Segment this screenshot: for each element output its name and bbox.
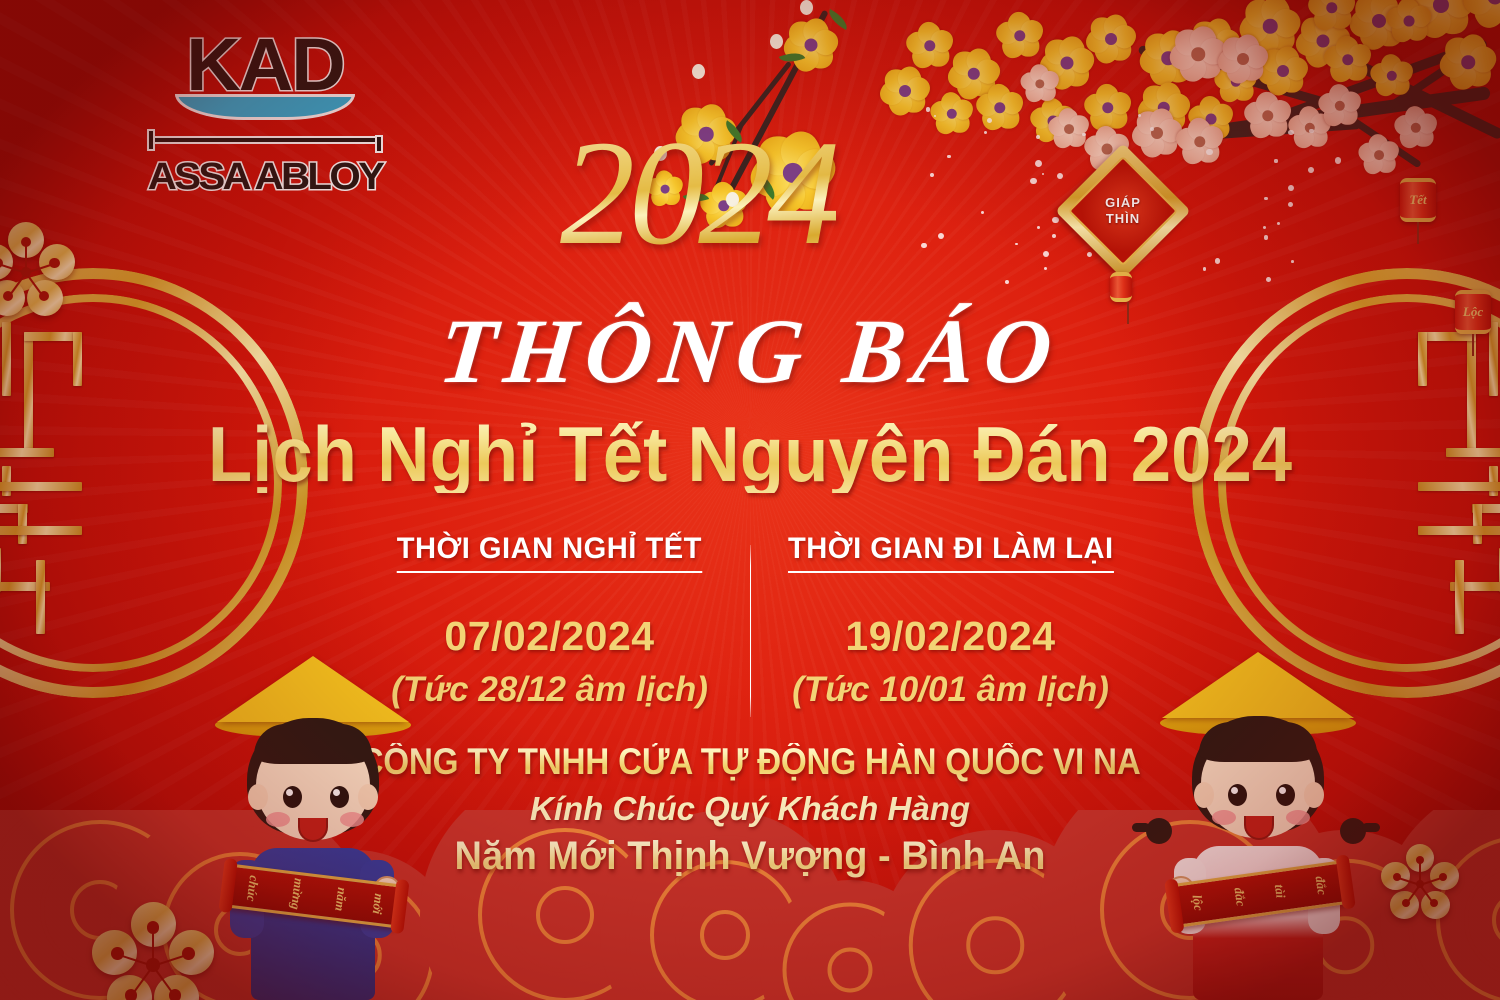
peach-blossom bbox=[1320, 86, 1360, 126]
concentric-ring bbox=[966, 916, 1024, 974]
apricot-blossom bbox=[1326, 38, 1370, 82]
kad-assa-abloy-logo: KAD ASSA ABLOY bbox=[140, 30, 390, 196]
gold-flower-dot bbox=[49, 258, 59, 268]
falling-petal-speck bbox=[1052, 217, 1058, 223]
boy-character-illustration: chúcmừngnămmới bbox=[178, 660, 448, 1000]
flower-center bbox=[1237, 53, 1249, 65]
column-date: 07/02/2024 bbox=[350, 613, 750, 660]
plaque-label: GIÁP THÌN bbox=[1075, 163, 1171, 259]
peach-blossom bbox=[1178, 120, 1222, 164]
column-date: 19/02/2024 bbox=[751, 613, 1151, 660]
flower-center bbox=[1191, 47, 1205, 61]
flower-center bbox=[1102, 144, 1113, 155]
giap-thin-plaque: GIÁP THÌN bbox=[1075, 163, 1171, 259]
falling-petal-speck bbox=[1288, 130, 1293, 135]
scroll-word: đắc bbox=[1230, 886, 1248, 907]
peach-blossom bbox=[1360, 136, 1398, 174]
falling-petal-speck bbox=[984, 131, 987, 134]
boy-cheek-left bbox=[266, 812, 290, 827]
girl-cheek-left bbox=[1212, 810, 1236, 825]
apricot-blossom bbox=[1388, 0, 1430, 42]
seal-maze-bar bbox=[0, 448, 54, 457]
concentric-ring bbox=[700, 910, 750, 960]
falling-petal-speck bbox=[1335, 157, 1341, 163]
gold-flower-center-dot bbox=[146, 958, 160, 972]
peach-blossom bbox=[1022, 66, 1058, 102]
boy-conical-hat bbox=[217, 656, 409, 722]
column-heading: THỜI GIAN ĐI LÀM LẠI bbox=[788, 532, 1113, 573]
falling-petal-speck bbox=[1308, 167, 1314, 173]
peach-blossom bbox=[1246, 94, 1290, 138]
announcement-title: THÔNG BÁO bbox=[0, 305, 1500, 397]
falling-petal-speck bbox=[1264, 197, 1268, 201]
scroll-cap-left bbox=[218, 858, 237, 913]
girl-cheek-right bbox=[1286, 810, 1310, 825]
falling-petal-speck bbox=[1030, 178, 1037, 185]
flower-center bbox=[1404, 16, 1415, 27]
apricot-blossom bbox=[908, 24, 952, 68]
falling-petal-speck bbox=[1288, 202, 1293, 207]
schedule-column-return-to-work: THỜI GIAN ĐI LÀM LẠI 19/02/2024 (Tức 10/… bbox=[751, 532, 1151, 710]
flower-center bbox=[1064, 124, 1074, 134]
boy-ear-right bbox=[358, 784, 378, 810]
page-subtitle: Lịch Nghỉ Tết Nguyên Đán 2024 bbox=[53, 415, 1448, 493]
plaque-line-1: GIÁP bbox=[1105, 196, 1141, 211]
scroll-word: năm bbox=[331, 886, 350, 912]
scroll-cap-left bbox=[1164, 878, 1184, 933]
falling-petal-speck bbox=[1044, 267, 1047, 270]
apricot-blossom bbox=[932, 94, 972, 134]
girl-character-illustration: lộcđắctàiđắc bbox=[1118, 660, 1398, 1000]
falling-petal-speck bbox=[1266, 277, 1271, 282]
falling-petal-speck bbox=[1015, 243, 1018, 246]
apricot-blossom bbox=[978, 86, 1022, 130]
girl-eye-left bbox=[1228, 784, 1247, 806]
falling-petal-speck bbox=[1263, 226, 1266, 229]
flower-center bbox=[805, 39, 818, 52]
falling-petal-speck bbox=[1291, 260, 1294, 263]
apricot-blossom bbox=[1466, 0, 1500, 26]
boy-cheek-right bbox=[340, 812, 364, 827]
falling-petal-speck bbox=[1043, 251, 1049, 257]
scroll-word: mới bbox=[369, 893, 387, 915]
seal-maze-bar bbox=[2, 466, 11, 496]
seal-maze-bar bbox=[1489, 466, 1498, 496]
girl-pigtail-right bbox=[1340, 818, 1366, 844]
girl-ear-right bbox=[1304, 782, 1324, 808]
boy-eye-right bbox=[330, 786, 349, 808]
flower-bud bbox=[770, 34, 783, 49]
scroll-cap-right bbox=[390, 879, 409, 934]
peach-blossom bbox=[1396, 108, 1436, 148]
girl-eye-right bbox=[1276, 784, 1295, 806]
falling-petal-speck bbox=[1082, 133, 1086, 137]
falling-petal-speck bbox=[930, 173, 934, 177]
plaque-line-2: THÌN bbox=[1106, 212, 1140, 227]
rule-bar-right-tick bbox=[377, 137, 381, 151]
logo-rule-bar bbox=[149, 131, 381, 151]
apricot-blossom bbox=[1088, 16, 1134, 62]
flower-bud bbox=[800, 0, 813, 15]
gold-flower-dot bbox=[39, 291, 49, 301]
flower-center bbox=[899, 85, 911, 97]
falling-petal-speck bbox=[1035, 160, 1042, 167]
falling-petal-speck bbox=[1309, 129, 1313, 133]
flower-center bbox=[1061, 57, 1074, 70]
apricot-blossom bbox=[1372, 56, 1412, 96]
column-heading: THỜI GIAN NGHỈ TẾT bbox=[397, 532, 702, 573]
apricot-blossom-branch bbox=[890, 0, 1500, 350]
apricot-blossom bbox=[882, 68, 928, 114]
peach-blossom bbox=[1220, 36, 1266, 82]
falling-petal-speck bbox=[1206, 149, 1212, 155]
peach-blossom bbox=[1050, 110, 1088, 148]
falling-petal-speck bbox=[1264, 235, 1268, 239]
falling-petal-speck bbox=[981, 211, 984, 214]
flower-bud bbox=[692, 64, 705, 79]
year-display: 2024 bbox=[560, 118, 836, 268]
falling-petal-speck bbox=[1057, 173, 1063, 179]
peach-blossom bbox=[1134, 110, 1180, 156]
apricot-blossom bbox=[1310, 0, 1354, 30]
falling-petal-speck bbox=[938, 233, 944, 239]
lantern-tassel bbox=[1417, 222, 1419, 244]
falling-petal-speck bbox=[1042, 173, 1044, 175]
falling-petal-speck bbox=[1274, 159, 1277, 162]
gold-flower-dot bbox=[125, 989, 138, 1000]
column-lunar-date: (Tức 10/01 âm lịch) bbox=[751, 670, 1151, 710]
falling-petal-speck bbox=[1288, 185, 1294, 191]
scroll-word: đắc bbox=[1311, 875, 1329, 896]
scroll-word: mừng bbox=[287, 877, 307, 910]
girl-conical-hat bbox=[1162, 652, 1354, 718]
flower-center bbox=[1461, 55, 1475, 69]
girl-bangs bbox=[1199, 722, 1317, 762]
concentric-ring bbox=[536, 886, 594, 944]
girl-pigtail-left bbox=[1146, 818, 1172, 844]
falling-petal-speck bbox=[1203, 267, 1207, 271]
lantern-body: Tết bbox=[1400, 178, 1436, 222]
falling-petal-speck bbox=[1215, 258, 1221, 264]
boy-eye-left bbox=[283, 786, 302, 808]
seal-maze-bar bbox=[1446, 448, 1500, 457]
scroll-word: lộc bbox=[1189, 894, 1207, 912]
scroll-word: tài bbox=[1271, 883, 1289, 899]
gold-flower-dot bbox=[111, 947, 124, 960]
girl-ear-left bbox=[1194, 782, 1214, 808]
apricot-blossom bbox=[786, 20, 836, 70]
flower-center bbox=[1372, 14, 1386, 28]
hanging-lantern-tet: Tết bbox=[1400, 178, 1436, 244]
falling-petal-speck bbox=[947, 155, 950, 158]
apricot-blossom bbox=[1442, 36, 1494, 88]
assa-abloy-wordmark: ASSA ABLOY bbox=[133, 158, 398, 196]
scroll-word: chúc bbox=[243, 875, 262, 903]
apricot-blossom bbox=[998, 14, 1042, 58]
falling-petal-speck bbox=[1037, 226, 1040, 229]
lantern-body bbox=[1110, 272, 1132, 302]
tet-holiday-announcement-poster: GIÁP THÌN Tết Lộc KAD ASSA ABLOY 2024 TH… bbox=[0, 0, 1500, 1000]
flower-center bbox=[1263, 19, 1278, 34]
flower-center bbox=[1105, 33, 1117, 45]
falling-petal-speck bbox=[1277, 222, 1280, 225]
falling-petal-speck bbox=[921, 243, 926, 248]
falling-petal-speck bbox=[926, 107, 930, 111]
concentric-ring bbox=[828, 948, 873, 993]
flower-center bbox=[1374, 150, 1384, 160]
falling-petal-speck bbox=[987, 118, 992, 123]
boy-bangs bbox=[254, 724, 372, 764]
kad-wordmark: KAD bbox=[138, 30, 393, 100]
gold-flower-dot bbox=[147, 921, 160, 934]
peach-blossom bbox=[1172, 28, 1224, 80]
rule-bar-left-tick bbox=[149, 131, 153, 149]
falling-petal-speck bbox=[1052, 234, 1056, 238]
apricot-blossom bbox=[1086, 86, 1130, 130]
flower-center bbox=[1277, 65, 1289, 77]
boy-ear-left bbox=[248, 784, 268, 810]
falling-petal-speck bbox=[1005, 280, 1010, 285]
scroll-cap-right bbox=[1335, 854, 1355, 909]
